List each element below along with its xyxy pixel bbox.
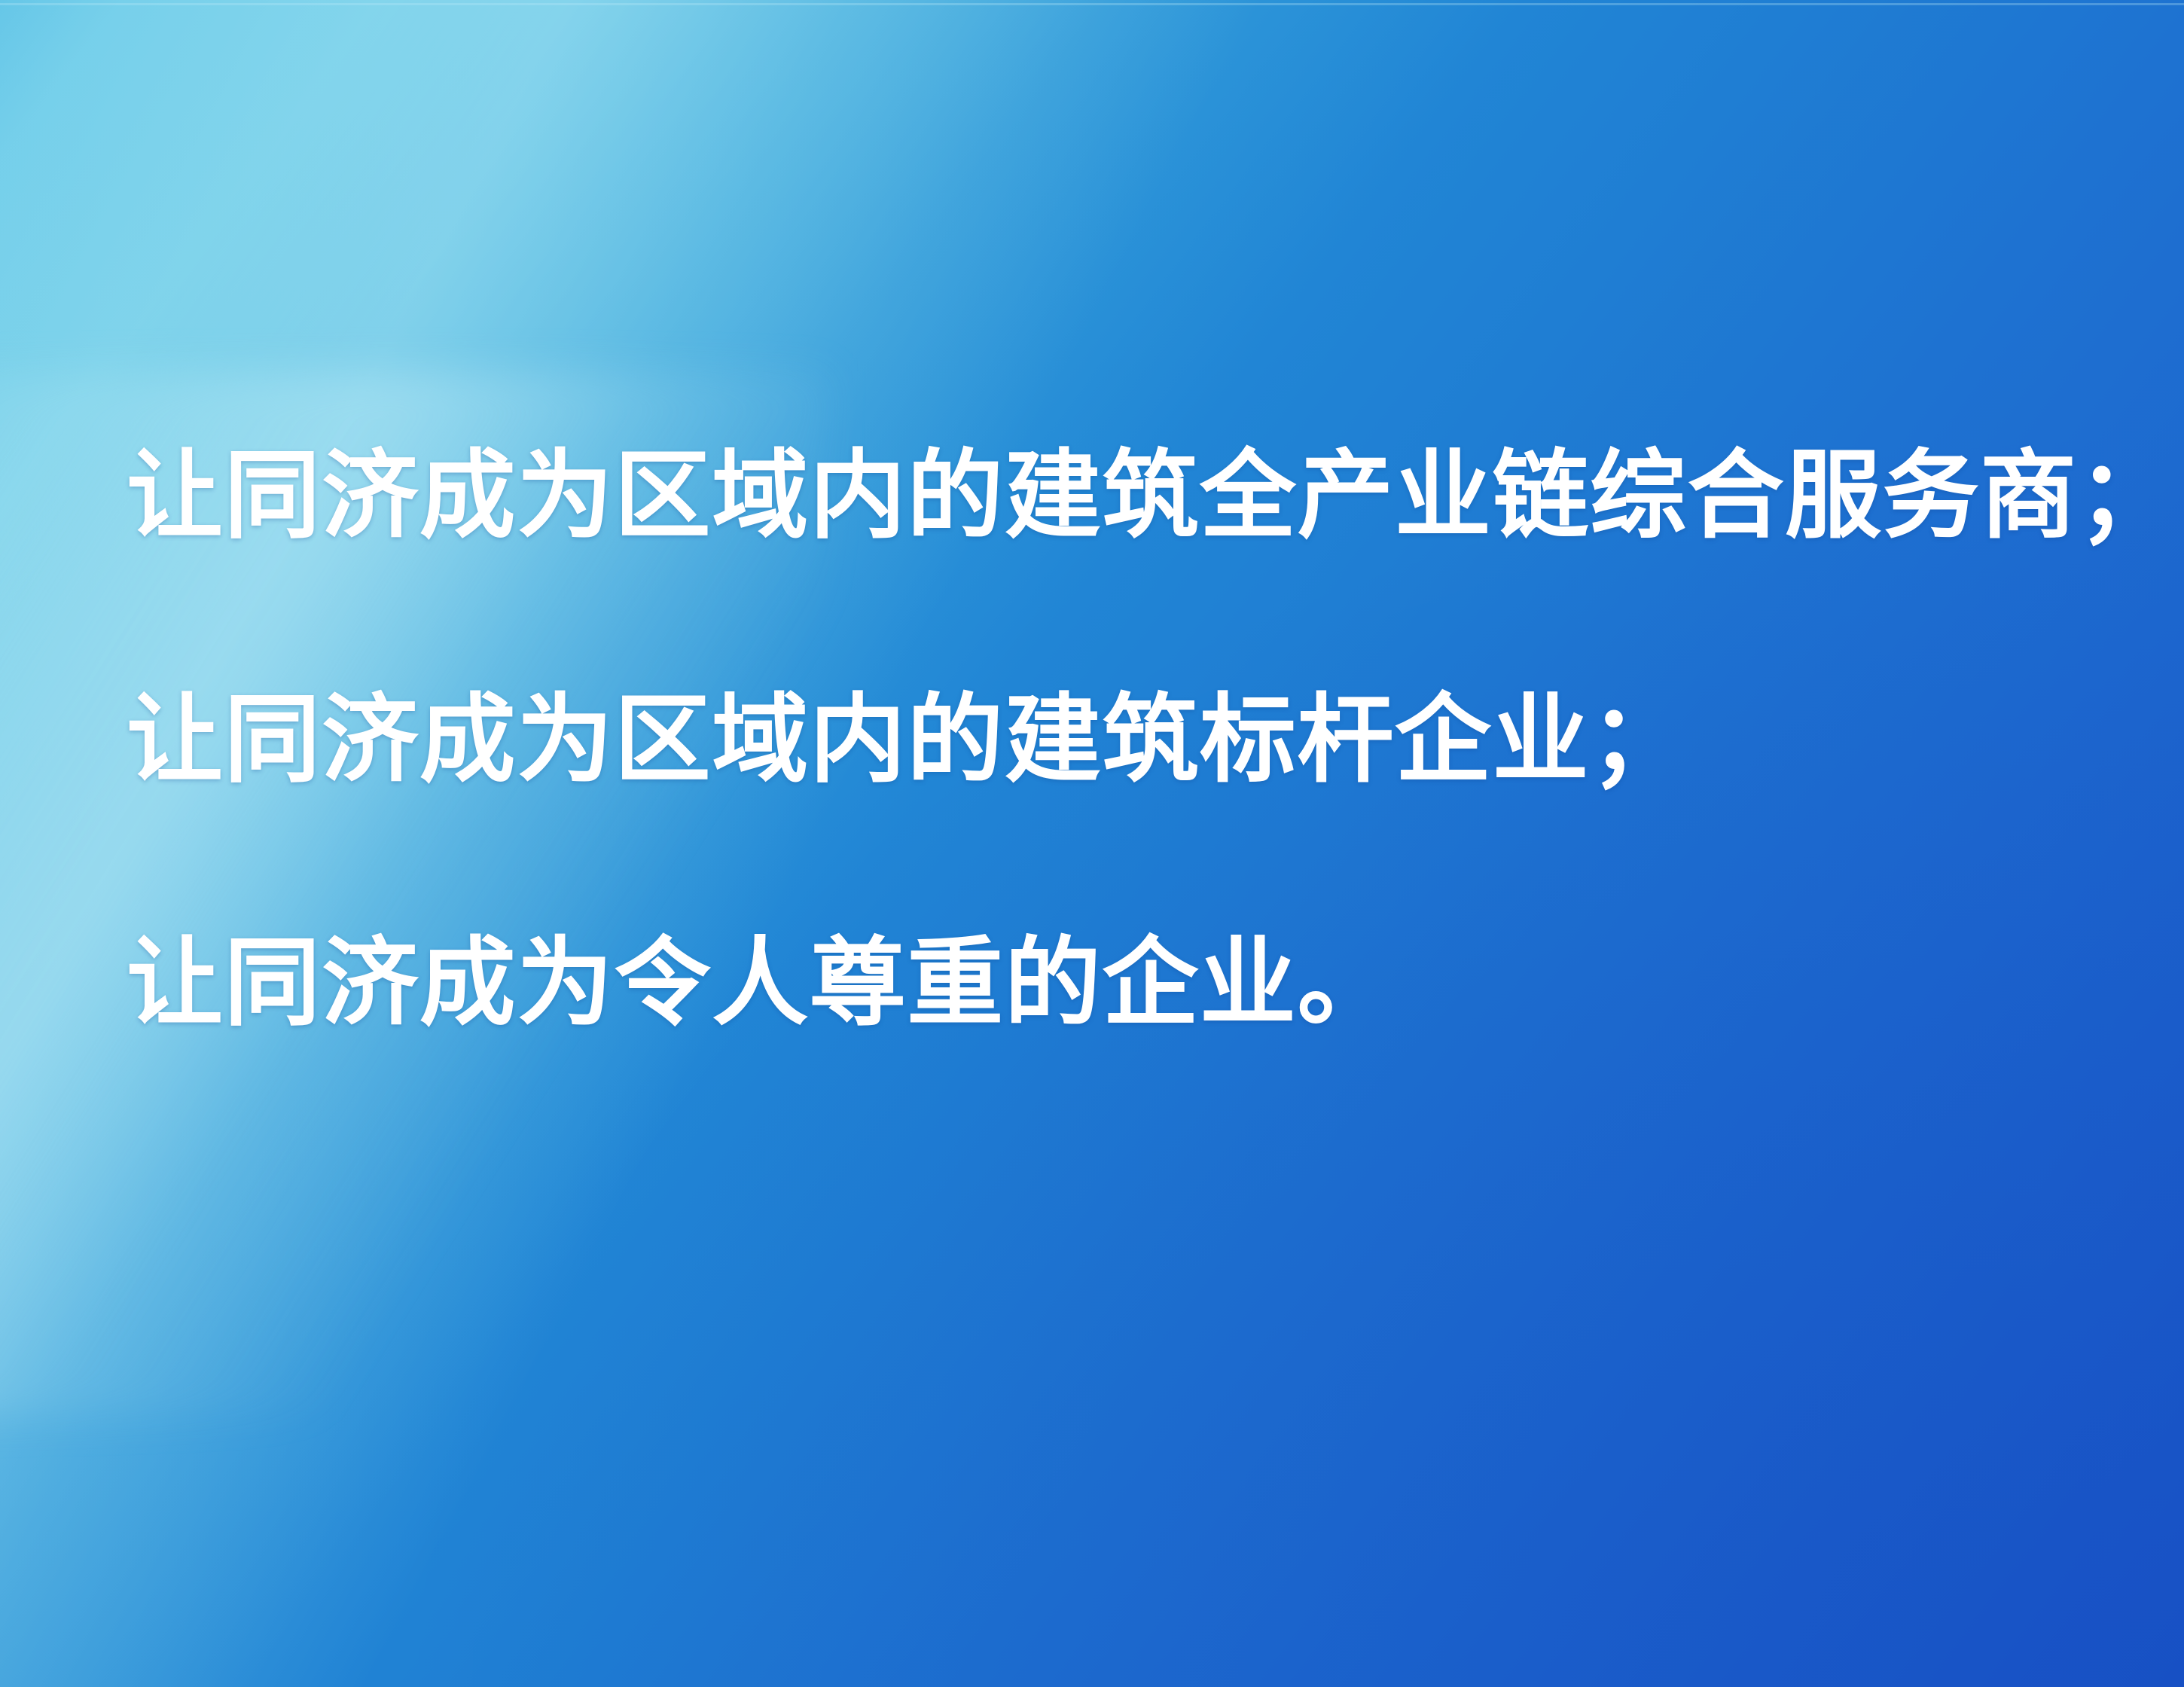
background-top-hairline xyxy=(0,3,2184,5)
mission-statement-line-1: 让同济成为区域内的建筑全产业链综合服务商； xyxy=(127,446,2100,548)
mission-statement-block: 让同济成为区域内的建筑全产业链综合服务商； 让同济成为区域内的建筑标杆企业； 让… xyxy=(127,446,2100,1036)
mission-statement-line-3: 让同济成为令人尊重的企业。 xyxy=(127,933,2100,1036)
mission-statement-line-2: 让同济成为区域内的建筑标杆企业； xyxy=(127,690,2100,792)
presentation-slide: 让同济成为区域内的建筑全产业链综合服务商； 让同济成为区域内的建筑标杆企业； 让… xyxy=(0,0,2184,1687)
